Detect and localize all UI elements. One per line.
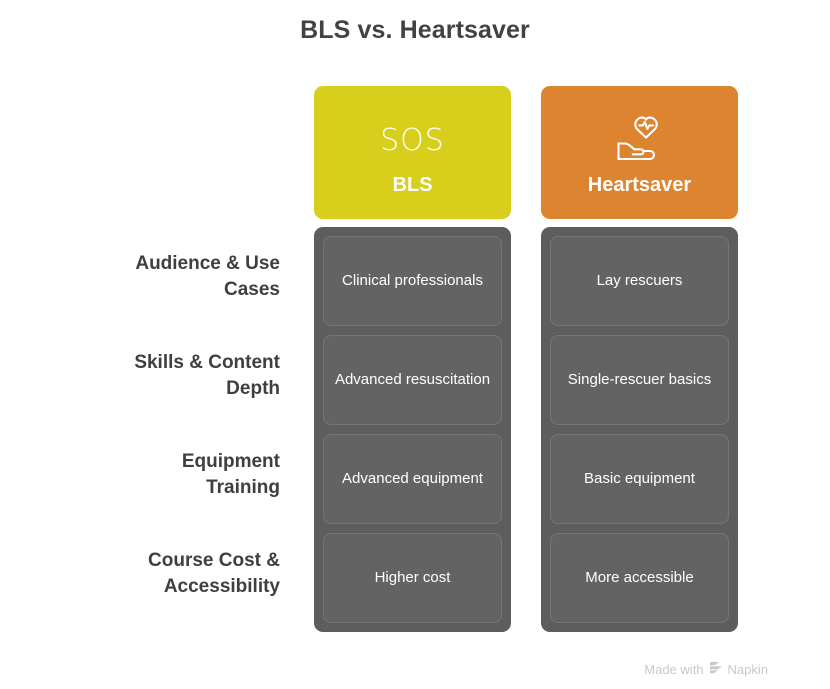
- row-label-course-cost-accessibility: Course Cost & Accessibility: [40, 524, 280, 623]
- cell-bls-cost: Higher cost: [323, 533, 502, 623]
- row-label-line-1: Audience & Use: [135, 251, 280, 276]
- cell-bls-equipment: Advanced equipment: [323, 434, 502, 524]
- column-body-heartsaver: Lay rescuers Single-rescuer basics Basic…: [541, 227, 738, 632]
- cell-heartsaver-cost: More accessible: [550, 533, 729, 623]
- cell-bls-audience: Clinical professionals: [323, 236, 502, 326]
- hand-holding-heart-icon: [612, 112, 668, 168]
- column-body-bls: Clinical professionals Advanced resuscit…: [314, 227, 511, 632]
- watermark-prefix: Made with: [644, 662, 703, 677]
- row-label-line-1: Equipment: [182, 449, 280, 474]
- watermark: Made with Napkin: [644, 661, 768, 677]
- row-label-line-2: Training: [182, 475, 280, 500]
- row-label-list: Audience & Use Cases Skills & Content De…: [40, 227, 280, 623]
- row-label-line-1: Skills & Content: [134, 350, 280, 375]
- column-title-heartsaver: Heartsaver: [588, 174, 691, 197]
- row-label-line-2: Accessibility: [148, 574, 280, 599]
- napkin-logo-icon: [709, 661, 723, 677]
- watermark-brand: Napkin: [728, 662, 768, 677]
- row-label-audience-use-cases: Audience & Use Cases: [40, 227, 280, 326]
- column-bls: SOS BLS Clinical professionals Advanced …: [314, 86, 511, 632]
- cell-heartsaver-equipment: Basic equipment: [550, 434, 729, 524]
- cell-heartsaver-skills: Single-rescuer basics: [550, 335, 729, 425]
- row-label-skills-content-depth: Skills & Content Depth: [40, 326, 280, 425]
- column-heartsaver: Heartsaver Lay rescuers Single-rescuer b…: [541, 86, 738, 632]
- sos-text-icon: SOS: [380, 112, 445, 168]
- row-label-line-2: Depth: [134, 376, 280, 401]
- row-label-equipment-training: Equipment Training: [40, 425, 280, 524]
- column-header-heartsaver: Heartsaver: [541, 86, 738, 219]
- column-title-bls: BLS: [393, 174, 433, 197]
- cell-heartsaver-audience: Lay rescuers: [550, 236, 729, 326]
- row-label-line-2: Cases: [135, 277, 280, 302]
- page-title: BLS vs. Heartsaver: [0, 16, 830, 45]
- column-header-bls: SOS BLS: [314, 86, 511, 219]
- cell-bls-skills: Advanced resuscitation: [323, 335, 502, 425]
- row-label-line-1: Course Cost &: [148, 548, 280, 573]
